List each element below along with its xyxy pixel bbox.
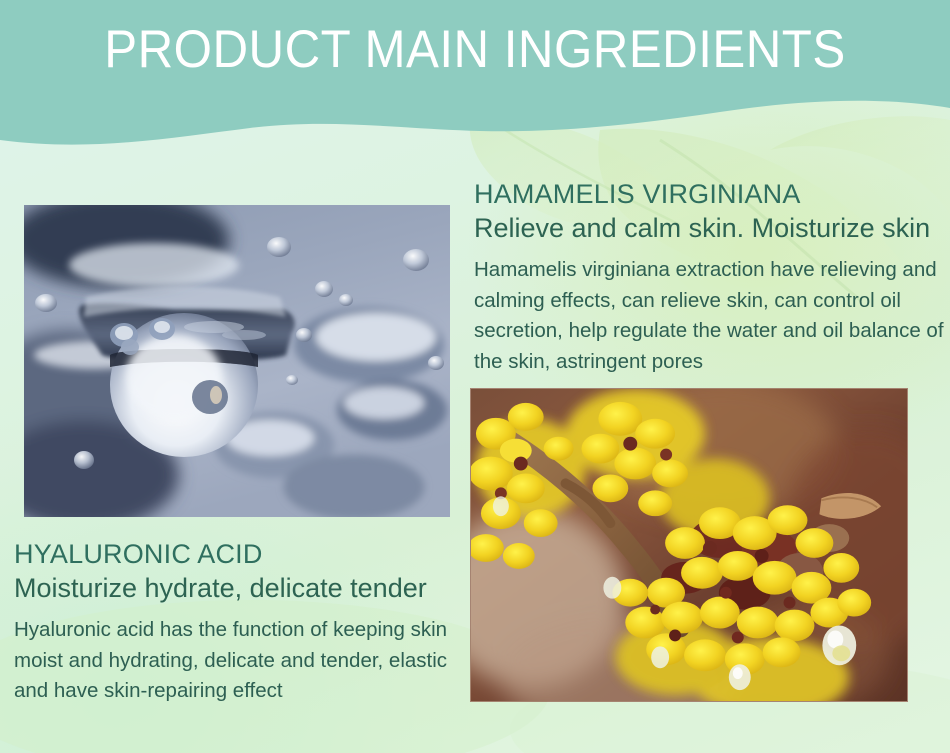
ingredient-name-hamamelis: HAMAMELIS VIRGINIANA [474,178,950,211]
page-title: PRODUCT MAIN INGREDIENTS [33,18,917,82]
ingredient-tagline-hyaluronic: Moisturize hydrate, delicate tender [14,571,474,606]
ingredient-name-hyaluronic: HYALURONIC ACID [14,538,474,571]
water-droplets-photo [24,205,450,517]
ingredient-block-hamamelis: HAMAMELIS VIRGINIANA Relieve and calm sk… [474,178,950,377]
ingredient-tagline-hamamelis: Relieve and calm skin. Moisturize skin [474,211,950,246]
ingredient-description-hamamelis: Hamamelis virginiana extraction have rel… [474,255,948,377]
ingredient-block-hyaluronic: HYALURONIC ACID Moisturize hydrate, deli… [14,538,474,707]
ingredient-description-hyaluronic: Hyaluronic acid has the function of keep… [14,615,466,707]
witch-hazel-flower-photo [470,388,908,702]
